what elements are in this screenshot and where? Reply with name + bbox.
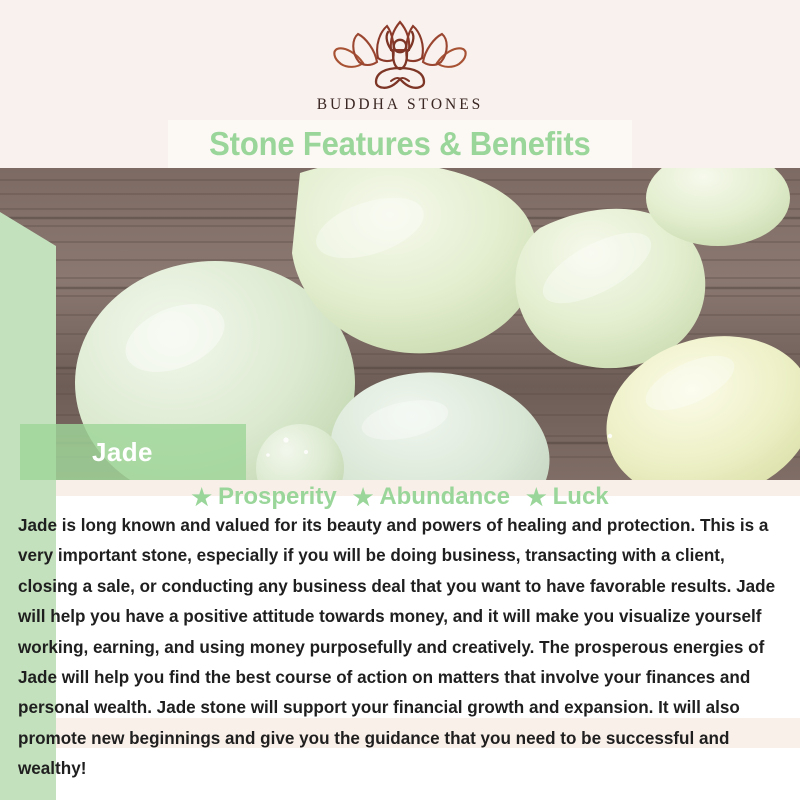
keyword-label: Luck [553, 483, 609, 511]
star-icon: ★ [526, 486, 547, 509]
benefit-keywords: ★ Prosperity ★ Abundance ★ Luck [0, 480, 800, 514]
stone-info-card: BUDDHA STONES Stone Features & Benefits [0, 0, 800, 800]
star-icon: ★ [353, 486, 374, 509]
stone-name-label: Jade [92, 437, 153, 468]
title-ribbon: Stone Features & Benefits [168, 120, 632, 168]
stone-name-band: Jade [20, 424, 246, 480]
keyword-label: Abundance [379, 483, 510, 511]
lotus-meditation-icon [325, 18, 475, 92]
brand-name: BUDDHA STONES [317, 96, 484, 114]
keyword-luck: ★ Luck [526, 483, 609, 511]
description-text: Jade is long known and valued for its be… [18, 511, 788, 785]
star-icon: ★ [191, 486, 212, 509]
page-title: Stone Features & Benefits [209, 125, 590, 163]
brand-logo: BUDDHA STONES [0, 18, 800, 114]
keyword-prosperity: ★ Prosperity [191, 483, 336, 511]
keyword-label: Prosperity [218, 483, 337, 511]
keyword-abundance: ★ Abundance [353, 483, 510, 511]
